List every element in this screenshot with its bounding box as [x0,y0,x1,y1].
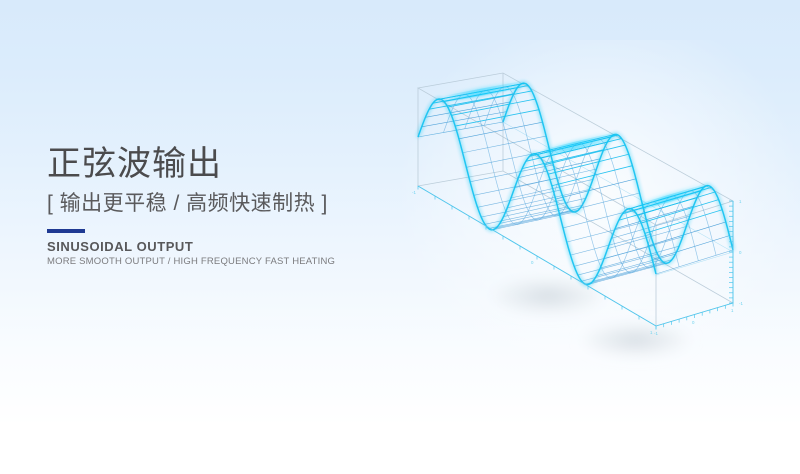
surface-rib [578,254,658,275]
axis-tick-label: 1 [739,199,742,204]
surface-rib [570,234,650,255]
surface-rib [548,154,629,174]
crest-highlight [442,84,526,100]
floor-shadow [488,276,694,359]
english-subtitle: MORE SMOOTH OUTPUT / HIGH FREQUENCY FAST… [47,255,397,269]
copy-block: 正弦波输出 [ 输出更平稳 / 高频快速制热 ] SINUSOIDAL OUTP… [47,143,397,269]
axis-tick-label: 1 [731,308,734,313]
surface-rib [459,122,543,139]
promo-banner: 正弦波输出 [ 输出更平稳 / 高频快速制热 ] SINUSOIDAL OUTP… [0,0,800,474]
surface-rib [463,136,547,153]
axis-tick-label: 0 [531,260,534,265]
surface-rib [470,165,553,182]
english-title: SINUSOIDAL OUTPUT [47,238,397,255]
page-title: 正弦波输出 [47,143,397,185]
axis-tick-label: -1 [739,301,743,306]
axis-tick-label: -1 [654,331,658,336]
sine-wave-3d-illustration: 10-1-101-101 [398,58,758,398]
accent-divider [47,229,85,233]
axis-tick-label: 0 [739,250,742,255]
subtitle-chinese: [ 输出更平稳 / 高频快速制热 ] [47,190,397,218]
surface-rib [656,250,733,274]
sine-surface-svg: 10-1-101-101 [398,58,758,398]
axis-tick-label: 0 [692,320,695,325]
surface-rib [593,260,672,282]
surface-rib [481,200,564,217]
surface-rib [425,102,510,117]
axis-tick-label: -1 [412,190,416,195]
surface-rib [652,236,729,260]
